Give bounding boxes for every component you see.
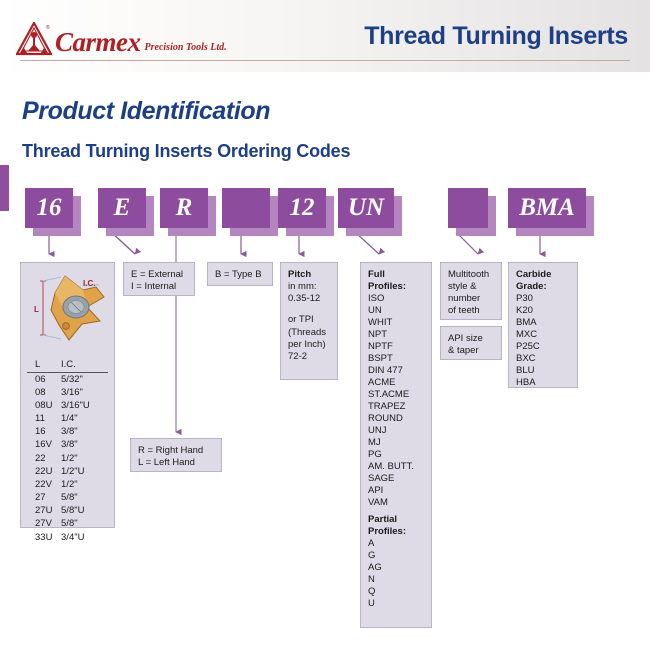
code-box-3[interactable]: R — [160, 188, 208, 228]
table-cell: 1/2"U — [61, 465, 108, 478]
list-item: BMA — [516, 317, 570, 329]
pitch-tpi-note-2: per Inch) — [288, 339, 330, 351]
list-item: TRAPEZ — [368, 401, 424, 413]
code-box-2[interactable]: E — [98, 188, 146, 228]
full-profiles-title-2: Profiles: — [368, 281, 424, 293]
pitch-unit: in mm: — [288, 281, 330, 293]
list-item: API — [368, 485, 424, 497]
table-cell: 5/8" — [61, 492, 108, 505]
list-item: MXC — [516, 329, 570, 341]
size-col-l: L — [27, 359, 61, 373]
table-cell: 1/4" — [61, 413, 108, 426]
carbide-grade-list: P30K20BMAMXCP25CBXCBLUHBA — [516, 293, 570, 389]
list-item: N — [368, 574, 424, 586]
table-cell: 5/8"U — [61, 505, 108, 518]
list-item: G — [368, 550, 424, 562]
right-hand-line: R = Right Hand — [138, 445, 214, 457]
list-item: BSPT — [368, 353, 424, 365]
list-item: ACME — [368, 377, 424, 389]
carbide-title-2: Grade: — [516, 281, 570, 293]
table-row: 163/8" — [27, 426, 108, 439]
table-cell: 08 — [27, 386, 61, 399]
list-item: NPTF — [368, 341, 424, 353]
table-row: 111/4" — [27, 413, 108, 426]
insert-figure: L I.C. — [21, 263, 114, 358]
table-cell: 33U — [27, 531, 61, 544]
type-box: B = Type B — [207, 262, 273, 286]
table-cell: 3/8" — [61, 426, 108, 439]
table-row: 33U3/4"U — [27, 531, 108, 544]
table-cell: 5/8" — [61, 518, 108, 531]
table-cell: 3/8" — [61, 439, 108, 452]
code-box-7[interactable] — [448, 188, 488, 228]
code-box-5[interactable]: 12 — [278, 188, 326, 228]
partial-profiles-title-1: Partial — [368, 514, 424, 526]
external-line: E = External — [131, 269, 187, 281]
list-item: AM. BUTT. — [368, 461, 424, 473]
figure-label-ic: I.C. — [83, 279, 95, 289]
table-row: 22U1/2"U — [27, 465, 108, 478]
full-profiles-list: ISOUNWHITNPTNPTFBSPTDIN 477ACMEST.ACMETR… — [368, 293, 424, 508]
insert-size-box: L I.C. L I.C. 065/32"083/16"08U3/16"U111… — [20, 262, 115, 528]
list-item: Q — [368, 586, 424, 598]
code-box-8[interactable]: BMA — [508, 188, 586, 228]
list-item: UNJ — [368, 425, 424, 437]
list-item: ROUND — [368, 413, 424, 425]
list-item: U — [368, 598, 424, 610]
table-cell: 22V — [27, 478, 61, 491]
list-item: NPT — [368, 329, 424, 341]
list-item: BLU — [516, 365, 570, 377]
table-row: 08U3/16"U — [27, 399, 108, 412]
list-item: HBA — [516, 377, 570, 389]
table-row: 221/2" — [27, 452, 108, 465]
table-cell: 08U — [27, 399, 61, 412]
table-cell: 06 — [27, 373, 61, 387]
table-cell: 16 — [27, 426, 61, 439]
table-cell: 22U — [27, 465, 61, 478]
table-cell: 5/32" — [61, 373, 108, 387]
multitooth-line-4: of teeth — [448, 305, 494, 317]
api-size-box: API size & taper — [440, 326, 502, 360]
multitooth-line-1: Multitooth — [448, 269, 494, 281]
list-item: MJ — [368, 437, 424, 449]
profiles-box: Full Profiles: ISOUNWHITNPTNPTFBSPTDIN 4… — [360, 262, 432, 628]
table-cell: 3/16"U — [61, 399, 108, 412]
hand-direction-box: R = Right Hand L = Left Hand — [130, 438, 222, 472]
size-table-header-row: L I.C. — [27, 359, 108, 373]
list-item: P30 — [516, 293, 570, 305]
list-item: ISO — [368, 293, 424, 305]
multitooth-line-2: style & — [448, 281, 494, 293]
list-item: DIN 477 — [368, 365, 424, 377]
size-table: L I.C. 065/32"083/16"08U3/16"U111/4"163/… — [21, 359, 114, 544]
figure-label-l: L — [34, 305, 39, 315]
pitch-range-tpi: 72-2 — [288, 351, 330, 363]
table-cell: 22 — [27, 452, 61, 465]
size-col-ic: I.C. — [61, 359, 108, 373]
list-item: SAGE — [368, 473, 424, 485]
table-cell: 1/2" — [61, 478, 108, 491]
multitooth-line-3: number — [448, 293, 494, 305]
internal-line: I = Internal — [131, 281, 187, 293]
table-row: 27V5/8" — [27, 518, 108, 531]
pitch-title: Pitch — [288, 269, 330, 281]
code-box-1[interactable]: 16 — [25, 188, 73, 228]
table-cell: 3/4"U — [61, 531, 108, 544]
list-item: P25C — [516, 341, 570, 353]
list-item: WHIT — [368, 317, 424, 329]
list-item: PG — [368, 449, 424, 461]
table-row: 27U5/8"U — [27, 505, 108, 518]
pitch-tpi-label: or TPI — [288, 314, 330, 326]
list-item: K20 — [516, 305, 570, 317]
carbide-grade-box: Carbide Grade: P30K20BMAMXCP25CBXCBLUHBA — [508, 262, 578, 388]
table-row: 22V1/2" — [27, 478, 108, 491]
table-row: 083/16" — [27, 386, 108, 399]
carbide-title-1: Carbide — [516, 269, 570, 281]
external-internal-box: E = External I = Internal — [123, 262, 195, 296]
pitch-range-mm: 0.35-12 — [288, 293, 330, 305]
api-line-1: API size — [448, 333, 494, 345]
partial-profiles-list: AGAGNQU — [368, 538, 424, 610]
table-row: 065/32" — [27, 373, 108, 387]
list-item: A — [368, 538, 424, 550]
partial-profiles-title-2: Profiles: — [368, 526, 424, 538]
list-item: ST.ACME — [368, 389, 424, 401]
table-row: 275/8" — [27, 492, 108, 505]
list-item: VAM — [368, 497, 424, 509]
table-cell: 1/2" — [61, 452, 108, 465]
full-profiles-title-1: Full — [368, 269, 424, 281]
multitooth-box: Multitooth style & number of teeth — [440, 262, 502, 320]
code-box-4[interactable] — [222, 188, 270, 228]
left-hand-line: L = Left Hand — [138, 457, 214, 469]
table-cell: 16V — [27, 439, 61, 452]
api-line-2: & taper — [448, 345, 494, 357]
code-box-6[interactable]: UN — [338, 188, 394, 228]
table-cell: 27 — [27, 492, 61, 505]
list-item: AG — [368, 562, 424, 574]
table-cell: 27V — [27, 518, 61, 531]
table-cell: 27U — [27, 505, 61, 518]
list-item: BXC — [516, 353, 570, 365]
table-cell: 11 — [27, 413, 61, 426]
type-b-line: B = Type B — [215, 269, 265, 281]
pitch-tpi-note-1: (Threads — [288, 327, 330, 339]
table-cell: 3/16" — [61, 386, 108, 399]
pitch-box: Pitch in mm: 0.35-12 or TPI (Threads per… — [280, 262, 338, 380]
table-row: 16V3/8" — [27, 439, 108, 452]
list-item: UN — [368, 305, 424, 317]
